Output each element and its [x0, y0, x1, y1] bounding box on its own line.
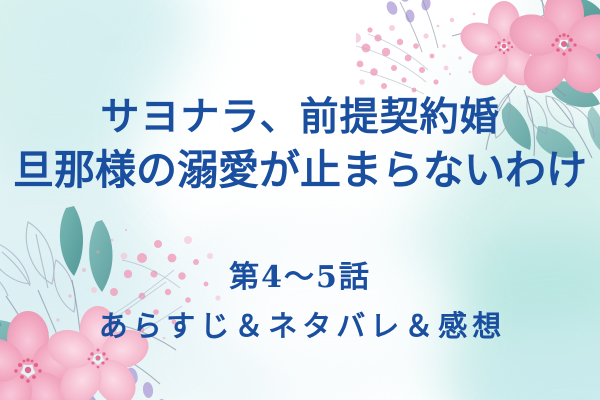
text-content-layer: サヨナラ、前提契約婚 旦那様の溺愛が止まらないわけ 第4〜5話 あらすじ＆ネタバ… [0, 0, 600, 400]
title-line-2: 旦那様の溺愛が止まらないわけ [13, 150, 587, 191]
subtitle-label: あらすじ＆ネタバレ＆感想 [94, 312, 506, 341]
title-line-1: サヨナラ、前提契約婚 [100, 98, 499, 137]
episode-label: 第4〜5話 [229, 263, 371, 293]
eyecatch-banner: サヨナラ、前提契約婚 旦那様の溺愛が止まらないわけ 第4〜5話 あらすじ＆ネタバ… [0, 0, 600, 400]
